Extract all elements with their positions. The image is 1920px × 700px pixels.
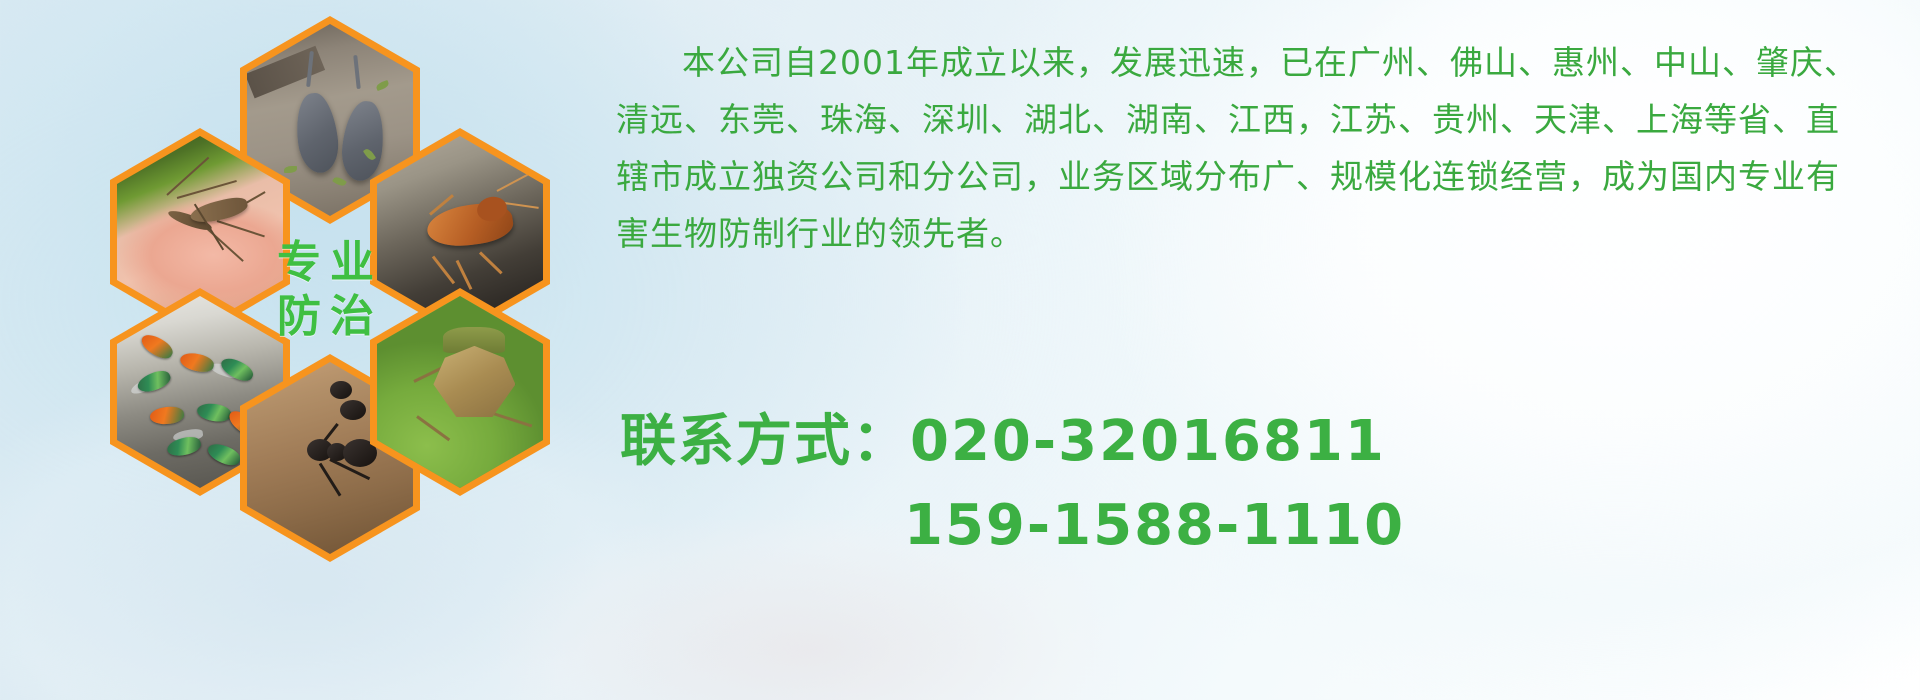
- company-intro: 本公司自2001年成立以来，发展迅速，已在广州、佛山、惠州、中山、肇庆、清远、东…: [616, 34, 1866, 262]
- company-intro-paragraph: 本公司自2001年成立以来，发展迅速，已在广州、佛山、惠州、中山、肇庆、清远、东…: [616, 34, 1866, 262]
- contact-primary-line[interactable]: 联系方式：020-32016811: [616, 400, 1876, 484]
- honeycomb-gallery: 专业 防治: [72, 6, 592, 566]
- contact-block: 联系方式：020-32016811 159-1588-1110: [616, 400, 1876, 568]
- slogan-line-1: 专业: [277, 241, 383, 285]
- contact-secondary-line[interactable]: 159-1588-1110: [616, 484, 1876, 568]
- slogan-line-2: 防治: [277, 295, 383, 339]
